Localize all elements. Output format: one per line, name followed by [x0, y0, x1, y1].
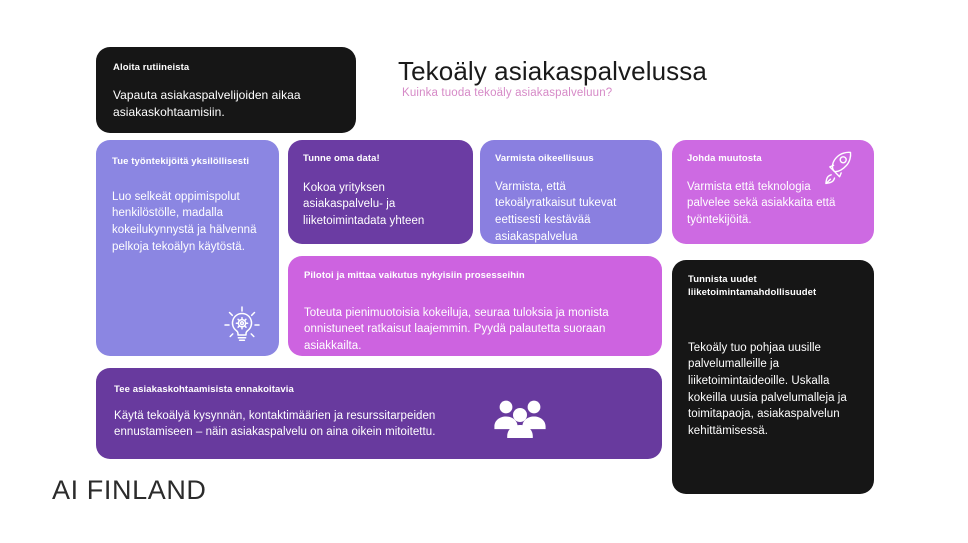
card-tue-tyontekijoita[interactable]: Tue työntekijöitä yksilöllisesti Luo sel… — [96, 140, 279, 356]
card-johda-muutosta[interactable]: Johda muutosta Varmista että teknologia … — [672, 140, 874, 244]
card-eyebrow: Tee asiakaskohtaamisista ennakoitavia — [114, 384, 644, 397]
card-aloita-rutiineista[interactable]: Aloita rutiineista Vapauta asiakaspalvel… — [96, 47, 356, 133]
card-body: Luo selkeät oppimispolut henkilöstölle, … — [112, 189, 263, 256]
card-eyebrow: Tue työntekijöitä yksilöllisesti — [112, 156, 263, 169]
page-title: Tekoäly asiakaspalvelussa — [398, 57, 918, 87]
slide-canvas: Tekoäly asiakaspalvelussa Kuinka tuoda t… — [0, 0, 968, 543]
card-body: Vapauta asiakaspalvelijoiden aikaa asiak… — [113, 87, 339, 122]
page-subtitle: Kuinka tuoda tekoäly asiakaspalveluun? — [402, 87, 922, 99]
card-eyebrow: Varmista oikeellisuus — [495, 153, 647, 166]
card-body: Varmista, että tekoälyratkaisut tukevat … — [495, 179, 647, 244]
card-varmista-oikeellisuus[interactable]: Varmista oikeellisuus Varmista, että tek… — [480, 140, 662, 244]
card-eyebrow: Johda muutosta — [687, 153, 859, 166]
card-tee-ennakoitavia[interactable]: Tee asiakaskohtaamisista ennakoitavia Kä… — [96, 368, 662, 459]
card-body: Tekoäly tuo pohjaa uusille palvelumallei… — [688, 340, 858, 440]
card-pilotoi-ja-mittaa[interactable]: Pilotoi ja mittaa vaikutus nykyisiin pro… — [288, 256, 662, 356]
card-body: Varmista että teknologia palvelee sekä a… — [687, 179, 855, 229]
card-eyebrow: Tunne oma data! — [303, 153, 458, 166]
card-eyebrow: Aloita rutiineista — [113, 62, 339, 75]
card-tunnista-uudet-mahdollisuudet[interactable]: Tunnista uudet liiketoimintamahdollisuud… — [672, 260, 874, 494]
card-eyebrow: Pilotoi ja mittaa vaikutus nykyisiin pro… — [304, 270, 646, 283]
footer-logo: AI FINLAND — [52, 475, 207, 506]
card-body: Kokoa yrityksen asiakaspalvelu- ja liike… — [303, 180, 458, 230]
card-body: Toteuta pienimuotoisia kokeiluja, seuraa… — [304, 305, 646, 355]
card-tunne-oma-data[interactable]: Tunne oma data! Kokoa yrityksen asiakasp… — [288, 140, 473, 244]
card-eyebrow: Tunnista uudet liiketoimintamahdollisuud… — [688, 274, 858, 300]
card-body: Käytä tekoälyä kysynnän, kontaktimäärien… — [114, 408, 514, 441]
